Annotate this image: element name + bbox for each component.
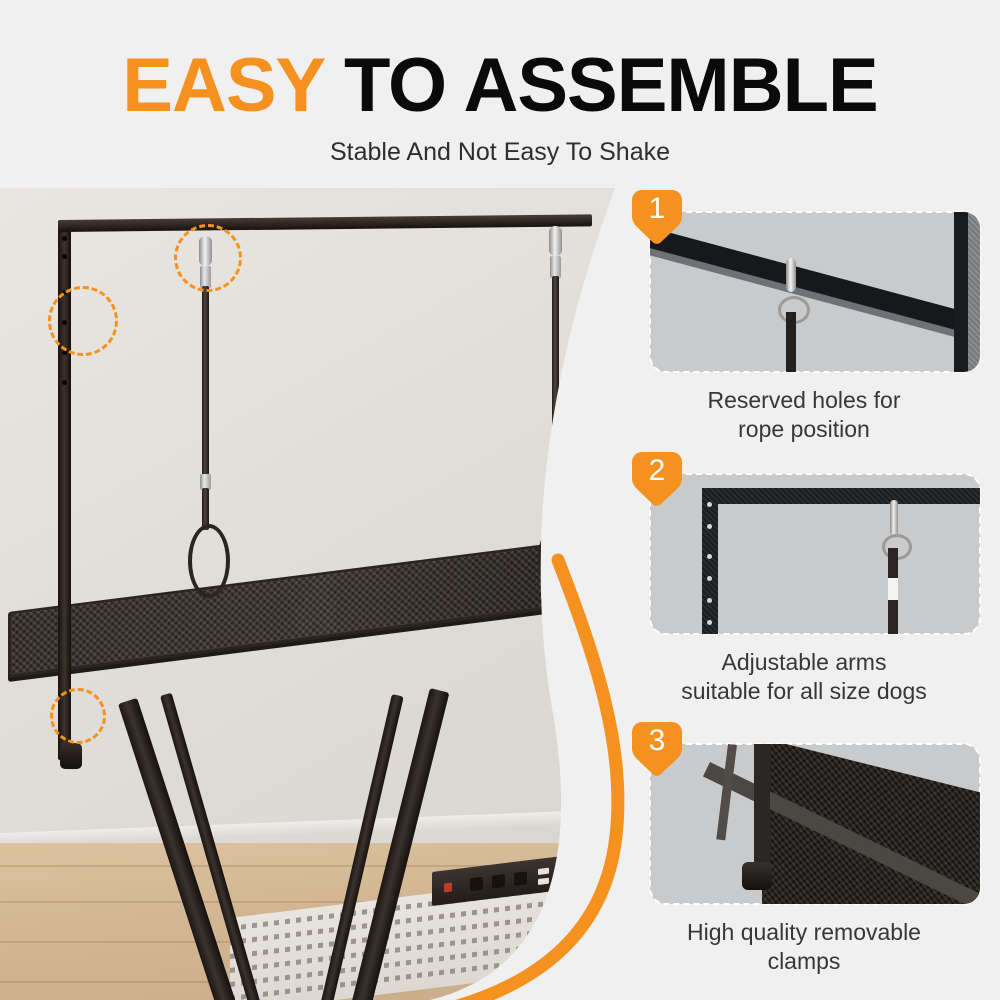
grooming-loop-strap — [552, 488, 559, 528]
feature-image-3 — [650, 744, 980, 904]
snap-hook-icon — [786, 258, 796, 292]
table-top — [8, 612, 588, 688]
step-badge-number: 3 — [632, 724, 682, 758]
strap-ferrule — [550, 256, 561, 278]
feature-caption-line2: clamps — [624, 947, 984, 976]
snap-hook-icon — [549, 226, 562, 256]
power-switch-icon — [444, 883, 452, 893]
power-socket-icon — [514, 871, 527, 886]
strap-ferrule — [550, 474, 561, 490]
grooming-loop — [538, 522, 580, 596]
feature-panel-2: 2 Adjustable arms suitable for all size … — [624, 452, 984, 702]
feature-caption-line2: suitable for all size dogs — [624, 677, 984, 706]
feature-caption-1: Reserved holes for rope position — [624, 386, 984, 444]
feature-panel-1: 1 Reserved holes for rope position — [624, 190, 984, 440]
page-title-main: TO ASSEMBLE — [344, 43, 878, 128]
header: EASY TO ASSEMBLE Stable And Not Easy To … — [0, 0, 1000, 188]
clamp-knob-icon — [742, 862, 772, 890]
page-title: EASY TO ASSEMBLE — [0, 48, 1000, 124]
step-badge-number: 1 — [632, 192, 682, 226]
hook-attachment-highlight — [174, 224, 242, 292]
feature-caption-line2: rope position — [624, 415, 984, 444]
feature-image-2 — [650, 474, 980, 634]
snap-hook-icon — [890, 500, 898, 536]
feature-caption-line1: Adjustable arms — [624, 648, 984, 677]
power-socket-icon — [492, 874, 505, 889]
feature-caption-line1: Reserved holes for — [624, 386, 984, 415]
strap-segment — [786, 312, 796, 372]
reserved-holes-highlight — [48, 286, 118, 356]
infographic-page: EASY TO ASSEMBLE Stable And Not Easy To … — [0, 0, 1000, 1000]
usb-port-icon — [538, 868, 549, 875]
page-title-accent: EASY — [122, 43, 344, 128]
strap-adjuster — [888, 578, 898, 600]
feature-caption-3: High quality removable clamps — [624, 918, 984, 976]
feature-panel-3: 3 High quality removable clamps — [624, 722, 984, 972]
hero-photo-scene — [0, 188, 632, 1000]
grooming-loop — [188, 524, 230, 598]
table-clamp — [60, 743, 82, 769]
page-subtitle: Stable And Not Easy To Shake — [0, 138, 1000, 166]
feature-caption-line1: High quality removable — [624, 918, 984, 947]
usb-port-icon — [538, 878, 549, 885]
feature-caption-2: Adjustable arms suitable for all size do… — [624, 648, 984, 706]
step-badge-number: 2 — [632, 454, 682, 488]
power-socket-icon — [470, 877, 483, 892]
clamp-highlight — [50, 688, 106, 744]
scene-wall — [0, 188, 632, 848]
feature-image-1 — [650, 212, 980, 372]
grooming-loop-strap — [552, 276, 559, 476]
hero-image — [0, 188, 632, 1000]
grooming-loop-strap — [202, 286, 209, 476]
